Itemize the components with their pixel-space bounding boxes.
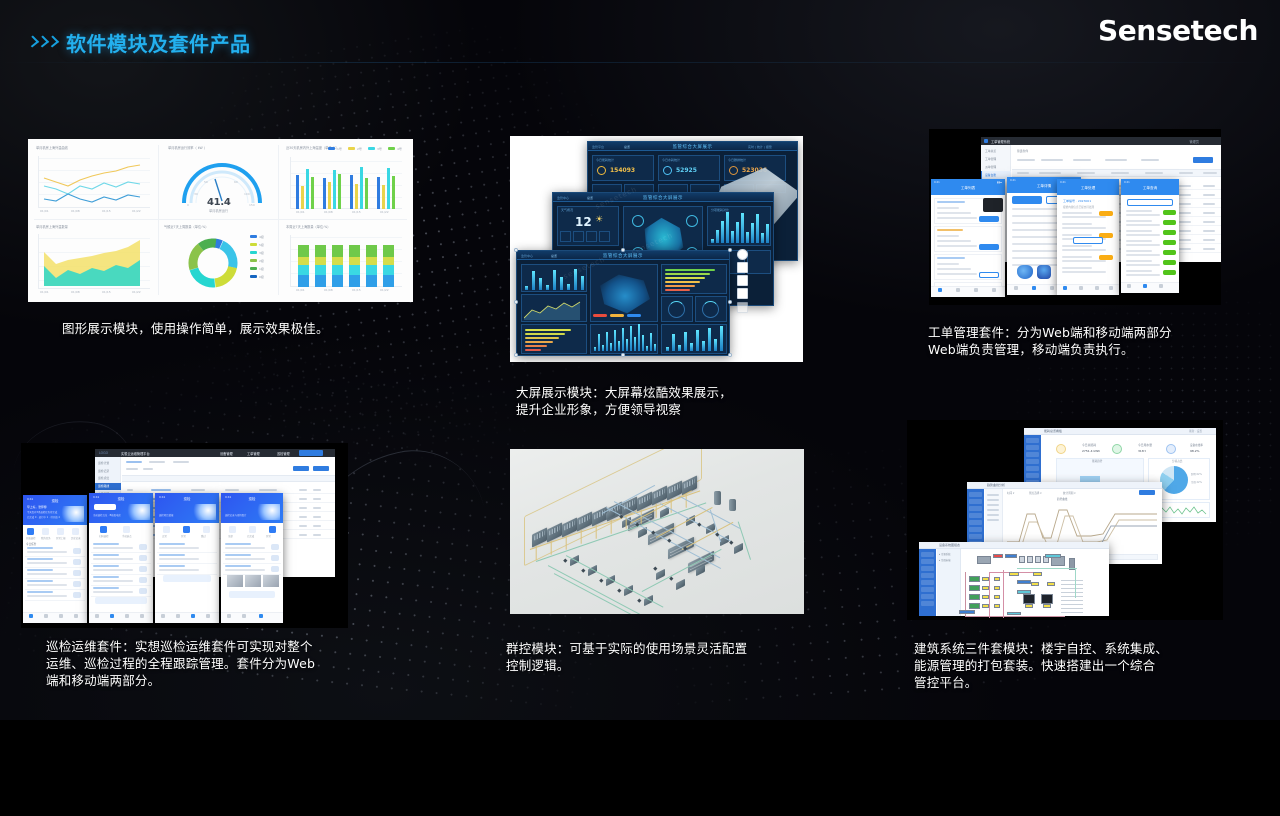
caption-group-control-module: 群控模块：可基于实际的使用场景灵活配置 控制逻辑。 [506,640,826,674]
sidebar[interactable] [919,549,936,616]
cell [1203,221,1215,223]
row-title [225,554,251,556]
row-title [93,554,119,556]
chevron-right-icon [271,566,279,572]
row-title [27,558,53,560]
bar-segment [383,265,394,275]
bar [350,175,353,209]
bar [567,284,570,290]
screenshot-building-system-suite[interactable]: 能耗总览看板 刷新 · 设置 今日总能耗 2751.4 kWh 今日用水量 31… [907,420,1223,620]
bar-segment [349,245,360,257]
bar-segment [366,275,377,287]
cooling-tower [1035,556,1041,563]
brand-logo: Sensetech [1098,14,1258,47]
resize-handle[interactable] [728,300,732,304]
bar [333,170,336,209]
resize-handle[interactable] [728,353,732,357]
cell [313,516,321,518]
row-desc [27,562,67,564]
divider [158,145,159,295]
row-value [1126,254,1160,256]
bar [761,233,764,243]
list-line [1012,243,1062,245]
cell [313,498,321,500]
valve-group [1017,580,1031,584]
mobile-title: 巡检 [184,496,191,501]
legend-swatch [250,267,257,270]
svg-text:60: 60 [234,180,238,184]
bar [690,343,693,351]
copy-icon-button[interactable] [737,262,748,273]
row-desc [159,558,199,560]
hbar [525,329,571,331]
cell [127,489,133,491]
list-row [91,585,151,586]
mobile-screen-1[interactable]: 9:41▮▮▰ 工单列表 [931,179,1005,297]
chart-grouped-bar: 01/01 01/08 01/15 01/22 [290,157,402,209]
cell [299,507,307,509]
cell [313,525,321,527]
bar-segment [349,265,360,275]
chart-area: 01/01 01/08 01/15 01/22 [38,234,150,289]
inspection-mobile-1[interactable]: 9:41 巡检 早上好，张师傅 今天您有5条巡检任务待完成 已完成 0 · 进行… [23,495,87,623]
chevron-right-icon [139,588,147,594]
row-value [1062,271,1106,273]
isometric-plant-diagram [510,449,804,614]
screenshot-large-screen-module[interactable]: 监管综合大屏展示 监管平台 总览 实时 | 统计 | 报警 今日能耗统计 今日水… [510,136,803,362]
mobile-title: 巡检 [249,496,256,501]
list-row [91,552,151,553]
search-input[interactable] [1127,199,1173,206]
status-badge [1163,220,1176,225]
pump-unit [676,579,685,590]
bar [702,341,705,351]
bar [650,333,652,351]
storage-tank [729,499,736,511]
row-value [1126,274,1160,276]
chevron-right-icon [271,555,279,561]
mobile-tabbar[interactable] [931,286,1005,297]
chevron-right-icon [73,559,81,565]
chiller-symbol [969,576,980,582]
bar [672,334,675,351]
chevron-right-icon [139,544,147,550]
cell [1203,230,1215,232]
row-desc [93,558,133,560]
pipe-segment [660,503,731,542]
cell [313,507,321,509]
row-label [1126,210,1152,212]
bar [630,326,632,351]
list-line [1012,257,1062,259]
illustration-icon [1017,265,1033,279]
legend-block [1007,612,1021,615]
row-title [27,580,53,582]
screenshot-group-control-module[interactable] [510,449,804,614]
bar [646,346,648,351]
list-line [1012,250,1062,252]
bar [618,341,620,351]
add-photo-button[interactable] [163,575,211,582]
mobile-title: 工单处理 [1081,186,1095,191]
row-label [1062,256,1092,258]
hbar [665,269,715,271]
bar [306,169,309,209]
kpi-icon [1056,444,1066,454]
export-button[interactable] [313,466,329,471]
resize-handle[interactable] [514,353,518,357]
heat-exchanger [977,556,991,564]
cell [1179,248,1191,250]
action-button[interactable] [979,216,999,222]
search-button[interactable] [1193,157,1213,163]
quick-actions[interactable]: 正常 异常 跳过 [155,524,219,538]
row-title [159,543,185,545]
mobile-tabbar[interactable] [23,612,87,623]
bar [626,339,628,351]
crop-icon-button[interactable] [737,288,748,299]
row-value [1126,224,1160,226]
mobile-screen-3[interactable]: 9:41 工单处理 工单编号 · 2023001 报修内容信息已提交待处理 [1057,179,1119,295]
cell [1179,230,1191,232]
bar-segment [298,245,309,257]
submit-button[interactable] [229,591,275,598]
mobile-screen-4[interactable]: 9:41 工单查询 [1121,179,1179,293]
quick-actions[interactable]: 开始巡检 我的任务 异常上报 历史记录 [23,526,87,540]
row-label [1126,220,1152,222]
bar [365,178,368,209]
action-button[interactable] [979,272,999,278]
row-title [27,591,53,593]
chart-line: 01/01 01/08 01/15 01/22 [38,156,150,208]
tooltip-overlay [983,198,1003,212]
panel-title-area: 单月机房上海外温数量 [36,225,68,230]
photo-thumbnail[interactable] [227,575,243,587]
row-label [1126,270,1152,272]
row-desc [225,547,265,549]
row-desc [93,569,133,571]
bar [539,278,542,290]
bar [355,184,358,209]
resize-handle[interactable] [621,353,625,357]
chart-gauge: 50 60 30 100 0 150 41.4 单月机房运行 [174,157,270,212]
bar [553,270,556,290]
photo-thumbnail[interactable] [245,575,261,587]
row-label [1126,260,1152,262]
settings-icon-button[interactable] [737,249,748,260]
bar [696,330,699,351]
screen-title: 监管综合大屏展示 [673,144,713,150]
triple-chevron-right-icon [28,36,57,50]
valve-node [581,568,585,572]
bar-segment [366,257,377,265]
row-label [1126,240,1152,242]
chiller-symbol [969,585,980,591]
list-row [25,578,85,579]
bi-dashboard: 单月机房上海外温曲线 01/01 01/08 01/15 01/22 单月机房运… [28,139,413,302]
filter-chip[interactable] [94,504,116,510]
cell [225,489,239,491]
pie-chart [1160,466,1188,494]
status-badge [1163,260,1176,265]
mobile-tabbar[interactable] [155,612,219,623]
pipe-line [965,616,1065,617]
point-row [1061,596,1083,597]
cell [1179,185,1191,187]
resize-handle[interactable] [514,248,518,252]
cell [1203,185,1215,187]
divider [278,145,279,295]
point-row [1061,612,1083,613]
row-title [159,565,185,567]
row-desc [27,584,67,586]
bar [714,339,717,351]
status-badge [1163,270,1176,275]
bar [610,343,612,351]
hbar [525,345,547,347]
resize-handle[interactable] [621,248,625,252]
action-button[interactable] [979,244,999,250]
valve-node [669,576,673,580]
sensor-tag [1047,582,1055,586]
hbar [525,337,559,339]
cooling-tower [1027,556,1033,563]
bar [338,174,341,209]
resize-handle[interactable] [728,248,732,252]
bar [731,231,734,243]
hbar [665,277,705,279]
valve-node [637,598,641,602]
bar [301,186,304,209]
list-line [1012,222,1062,224]
status-badge [1099,255,1113,260]
chevron-right-icon [139,577,147,583]
device-tree[interactable]: ▸ 冷源系统 ▸ 空调末端 [937,549,961,616]
cell [1179,194,1191,196]
pipe-line [989,572,990,618]
row-value [1062,249,1106,251]
cell [1203,194,1215,196]
svg-text:50: 50 [204,180,208,184]
sensor-tag [982,595,989,599]
hbar [665,289,690,291]
photo-thumbnail[interactable] [263,575,279,587]
svg-text:30: 30 [194,192,198,196]
panel-title-donut: 气候近7天上周数量（单位:%） [164,225,208,230]
illustration-icon [1037,265,1051,279]
bar [377,177,380,209]
kpi-value: 52925 [676,167,697,174]
chart-stacked-bar: 01/01 01/08 01/15 01/22 [290,235,402,287]
row-desc [159,569,199,571]
bar [721,221,724,243]
bar [328,182,331,209]
bar [756,214,759,243]
cell [313,489,321,491]
point-row [1061,588,1083,589]
bar [711,239,714,243]
tab-active[interactable] [1012,196,1042,204]
legend-swatch [250,235,257,238]
bar [684,332,687,351]
point-row [1061,608,1083,609]
list-row [223,552,281,553]
status-badge [1099,211,1113,216]
screenshot-graphic-display-module[interactable]: 单月机房上海外温曲线 01/01 01/08 01/15 01/22 单月机房运… [28,139,413,302]
weather-temp: 12 [575,215,592,229]
bar-segment [332,265,343,275]
mobile-tabbar[interactable] [89,612,153,623]
bar [360,167,363,209]
bar-segment [332,245,343,257]
chevron-right-icon [73,592,81,598]
row-desc [93,591,133,593]
bar [678,345,681,351]
svg-text:0: 0 [187,203,189,207]
row-desc [159,547,199,549]
hbar [525,349,541,351]
cell [1179,203,1191,205]
mobile-title: 巡检 [52,498,59,503]
cell [1203,248,1215,250]
query-button[interactable] [293,466,309,471]
hbar [525,341,553,343]
divider [34,219,407,220]
quick-actions[interactable]: 全部 已完成 异常 [221,524,283,538]
bar [720,326,723,351]
cell [313,534,321,536]
mobile-tabbar[interactable] [1057,284,1119,295]
bar-segment [366,265,377,275]
page-header: 软件模块及套件产品 [28,28,251,57]
bar [382,185,385,209]
bar [602,345,604,351]
bar [766,224,769,243]
cell [191,489,205,491]
hbar [665,281,700,283]
panel-title-gauge: 单月机房运行效率（ kW ） [168,146,207,151]
list-row [91,563,151,564]
valve-node [653,566,657,570]
user-menu[interactable]: 管理员 [1189,139,1199,144]
app-logo-icon [984,139,988,143]
bar [741,213,744,243]
row-desc [225,558,265,560]
bar [392,176,395,209]
row-desc [27,551,67,553]
legend-swatch [250,243,257,246]
mobile-tabbar[interactable] [221,612,283,623]
resize-handle[interactable] [514,300,518,304]
hero-illustration [254,504,280,520]
bms-scada-window[interactable]: 设备系统图组态 ▸ 冷源系统 ▸ 空调末端 [919,542,1109,616]
point-row [1061,600,1083,601]
inspection-mobile-4[interactable]: 9:41 巡检 巡检记录与现场照片 全部 已完成 异常 [221,493,283,623]
bar-segment [332,275,343,287]
cell [1203,212,1215,214]
inspection-mobile-3[interactable]: 9:41 巡检 巡检项目填报 正常 异常 跳过 [155,493,219,623]
query-button[interactable] [1139,490,1155,495]
chiller-symbol [969,603,980,609]
pipe-segment [737,521,751,559]
legend-swatch [250,275,257,278]
mobile-tabbar[interactable] [1121,282,1179,293]
caption-inspection-ops-suite: 巡检运维套件：实想巡检运维套件可实现对整个 运维、巡检过程的全程跟踪管理。套件分… [46,638,416,689]
list-line [1012,236,1062,238]
layout-icon-button[interactable] [737,302,748,313]
control-block [1005,554,1017,558]
legend-swatch [328,147,335,150]
screenshot-work-order-suite[interactable]: 工单管理系统 管理员 工单总览 工单管理 派单管理 设备台账 统计报表 系统设置… [929,129,1221,305]
chiller-pump [1023,594,1035,604]
bar [311,177,314,209]
row-title [225,565,251,567]
valve-node [729,540,733,544]
row-value [1126,264,1160,266]
bar [638,324,640,351]
row-title [27,547,53,549]
bar-segment [383,245,394,257]
pipe-segment [548,565,655,614]
bar-segment [315,245,326,257]
list-line [1012,208,1062,210]
row-label [1062,234,1092,236]
mobile-title: 巡检 [118,496,125,501]
legend-swatch [250,251,257,254]
row-label [1062,212,1092,214]
sensor-tag [994,577,1000,581]
header-divider [0,62,1280,63]
bar-segment [315,257,326,265]
row-title [27,569,53,571]
gauge-value: 41.4 [207,197,230,208]
bar-segment [332,257,343,265]
bar [296,175,299,209]
quick-actions[interactable]: 扫码巡检 手动选点 [89,524,153,538]
window-titlebar [981,137,1221,145]
zoom-icon-button[interactable] [737,275,748,286]
caption-graphic-display-module: 图形展示模块，使用操作简单，展示效果极佳。 [62,320,422,337]
alarm-block [993,554,1003,558]
valve-node [617,588,621,592]
row-label [1062,267,1092,269]
inspection-mobile-2[interactable]: 9:41 巡检 当前巡检点位 · B栋配电房 扫码巡检 手动选点 [89,493,153,623]
bar [726,212,729,243]
cell [299,489,307,491]
row-title [93,543,119,545]
sensor-tag [982,577,989,581]
sensor-tag [1031,582,1039,586]
cell [299,498,307,500]
bar [708,328,711,351]
bar-segment [315,275,326,287]
big-screen-front[interactable]: 监管综合大屏展示 监管中心 总览 [516,250,730,356]
screenshot-inspection-ops-suite[interactable]: LOGO 实想云运维管理平台 设备管理 工单管理 巡检管理 统计报表 巡检计划 … [21,443,348,628]
submit-button[interactable] [1073,237,1103,244]
row-desc [93,580,133,582]
status-badge [1163,230,1176,235]
row-value [1062,227,1106,229]
bar-segment [383,275,394,287]
row-label [1126,250,1152,252]
chiller-symbol [969,594,980,600]
chevron-right-icon [73,548,81,554]
sensor-tag [1009,572,1019,576]
confirm-button[interactable] [95,597,147,604]
legend-label: 2号 [357,147,362,151]
valve-node [599,578,603,582]
row-label [1126,230,1152,232]
